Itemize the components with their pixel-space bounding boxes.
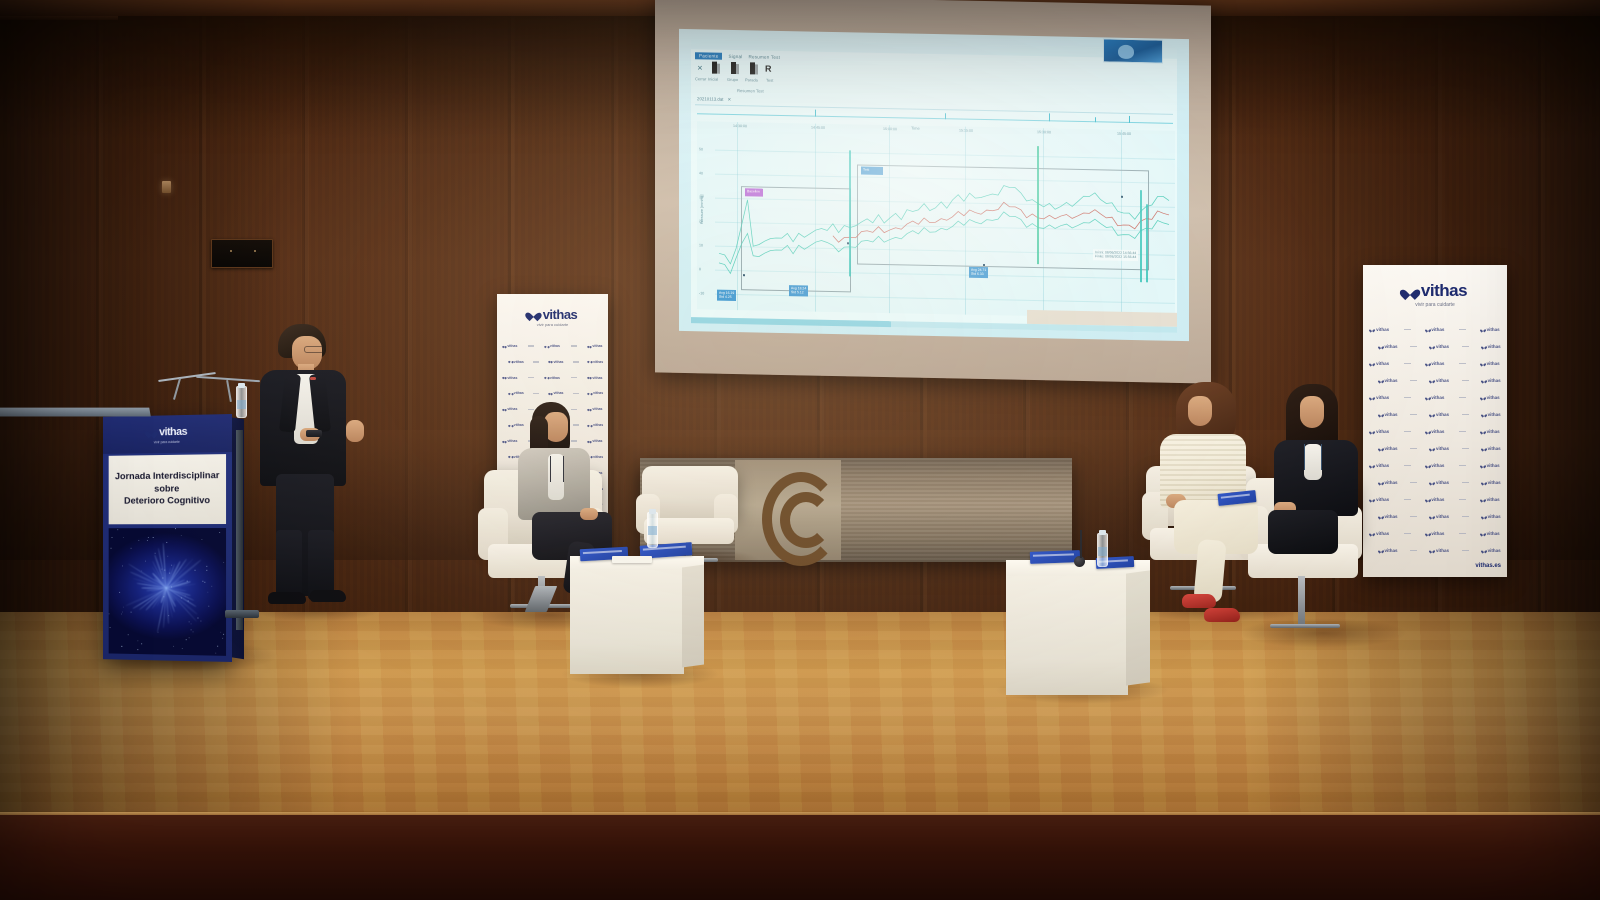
banner-pattern-row: vithasvithasvithas	[497, 386, 608, 402]
banner-pattern-dash	[1404, 363, 1411, 365]
brain-particle	[123, 606, 124, 607]
banner-pattern-row: vithasvithasvithas	[497, 338, 608, 354]
banner-left-logo: vithas	[497, 306, 608, 322]
brain-particle	[166, 542, 167, 543]
brain-particle	[122, 646, 123, 647]
brain-particle	[141, 643, 142, 644]
session-end: Finito: 08/06/2022 15:56:44	[1095, 255, 1136, 260]
brain-particle	[220, 631, 221, 632]
banner-pattern-dash	[1462, 448, 1469, 450]
brain-particle	[163, 596, 164, 597]
banner-pattern-word: vithas	[507, 376, 517, 380]
vithas-heart-icon	[1430, 379, 1434, 383]
banner-pattern-row: vithasvithasvithas	[497, 370, 608, 386]
tool-label-grupo: Grupo	[727, 77, 738, 82]
brain-particle	[110, 627, 111, 628]
banner-pattern-dash	[1459, 329, 1466, 331]
brain-particle	[123, 537, 124, 538]
vithas-heart-icon	[503, 376, 506, 379]
chart-annotation-tag[interactable]: Avg 18.24 Std 5.12	[789, 285, 808, 296]
banner-pattern-mark: vithas	[1426, 395, 1445, 400]
vithas-heart-icon	[1430, 345, 1434, 349]
brain-particle	[157, 631, 158, 632]
brain-particle	[119, 592, 120, 593]
banner-pattern-dash	[1462, 482, 1469, 484]
banner-pattern-word: vithas	[553, 391, 563, 395]
vithas-heart-icon	[1482, 379, 1486, 383]
tool-label-inicial: Inicial	[708, 76, 718, 81]
brain-particle	[222, 638, 223, 639]
banner-pattern-dash	[533, 361, 539, 363]
banner-pattern-word: vithas	[1436, 480, 1449, 485]
banner-pattern-word: vithas	[514, 391, 524, 395]
banner-pattern-word: vithas	[1487, 361, 1500, 366]
banner-right-brand: vithas	[1421, 281, 1467, 301]
brain-particle	[145, 561, 146, 562]
brain-particle	[168, 556, 169, 557]
brain-particle	[208, 592, 209, 593]
vithas-heart-icon	[528, 309, 539, 319]
vithas-heart-icon	[549, 392, 552, 395]
banner-pattern-dash	[1459, 499, 1466, 501]
chart-series-lower-envelope	[719, 206, 1169, 282]
banner-pattern-word: vithas	[593, 360, 603, 364]
panelist-3	[1268, 384, 1378, 584]
brain-particle	[138, 649, 139, 650]
banner-pattern-mark: vithas	[1379, 446, 1398, 451]
brain-particle	[147, 537, 148, 538]
vithas-heart-icon	[1481, 464, 1485, 468]
vithas-heart-icon	[545, 376, 548, 379]
banner-pattern-dash	[1410, 380, 1417, 382]
banner-pattern-row: vithasvithasvithas	[1363, 355, 1507, 372]
podium-desk-surface	[0, 408, 151, 417]
parada-icon[interactable]	[747, 62, 760, 76]
vithas-heart-icon	[1379, 549, 1383, 553]
banner-pattern-word: vithas	[550, 376, 560, 380]
banner-pattern-word: vithas	[1431, 531, 1444, 536]
banner-pattern-mark: vithas	[1481, 429, 1500, 434]
banner-pattern-mark: vithas	[1379, 480, 1398, 485]
chart-marker[interactable]	[1121, 196, 1123, 198]
banner-pattern-mark: vithas	[1482, 378, 1501, 383]
banner-pattern-word: vithas	[1384, 480, 1397, 485]
brain-particle	[181, 535, 182, 536]
folder-on-right-table[interactable]	[1030, 550, 1080, 564]
chart-marker[interactable]	[983, 264, 985, 266]
speaker-glasses	[304, 346, 324, 353]
panelist-2-shoe	[1204, 608, 1240, 622]
banner-left-tagline: vivir para cuidarte	[497, 322, 608, 327]
projection-screen: – ✕ Paciente Signal Resumen Test ✕ R Cer…	[655, 0, 1211, 384]
banner-pattern-mark: vithas	[1430, 446, 1449, 451]
tool-label-cerrar: Cerrar	[695, 76, 706, 81]
pressure-time-chart[interactable]: Time Pressure [mmHg] 50 40 30 20 10 0 -1…	[697, 121, 1175, 319]
paper-on-left-table[interactable]	[612, 556, 652, 563]
banner-pattern-row: vithasvithasvithas	[1363, 321, 1507, 338]
banner-pattern-word: vithas	[1487, 497, 1500, 502]
banner-pattern-mark: vithas	[549, 391, 564, 395]
brain-particle	[121, 646, 122, 647]
banner-pattern-word: vithas	[1384, 514, 1397, 519]
banner-right-logo: vithas	[1363, 281, 1507, 301]
brain-particle	[195, 570, 196, 571]
podium-brand: vithas	[159, 426, 187, 438]
brain-particle	[218, 646, 219, 647]
podium: vithas vivir para cuidarte Jornada Inter…	[103, 414, 232, 662]
banner-pattern-mark: vithas	[1426, 327, 1445, 332]
banner-pattern-mark: vithas	[1482, 548, 1501, 553]
ribbon-group-label: Resumen Test	[737, 88, 764, 94]
podium-brain-artwork	[109, 528, 226, 656]
brain-particle	[131, 612, 132, 613]
banner-pattern-dash	[1462, 380, 1469, 382]
banner-pattern-dash	[1462, 550, 1469, 552]
banner-pattern-word: vithas	[1488, 378, 1501, 383]
brain-particle	[204, 581, 205, 582]
control-booth-window	[211, 239, 273, 268]
banner-pattern-word: vithas	[1436, 412, 1449, 417]
banner-pattern-mark: vithas	[1426, 463, 1445, 468]
ribbon-tab-signal[interactable]: Signal	[728, 54, 742, 59]
vithas-heart-icon	[1426, 362, 1430, 366]
banner-pattern-word: vithas	[1376, 395, 1389, 400]
test-icon[interactable]: R	[765, 64, 772, 74]
banner-pattern-dash	[528, 377, 534, 379]
brain-particle	[190, 623, 191, 624]
vithas-heart-icon	[1481, 396, 1485, 400]
banner-pattern-row: vithasvithasvithas	[1363, 508, 1507, 525]
speaker-shoe-right	[310, 590, 346, 602]
chart-marker[interactable]	[847, 242, 849, 244]
vithas-heart-icon	[1426, 464, 1430, 468]
brain-particle	[138, 540, 139, 541]
banner-pattern-mark: vithas	[1370, 327, 1389, 332]
banner-pattern-mark: vithas	[509, 391, 524, 395]
ribbon-tab-paciente[interactable]: Paciente	[695, 52, 722, 60]
banner-pattern-mark: vithas	[1430, 548, 1449, 553]
banner-pattern-dash	[1459, 431, 1466, 433]
grupo-icon[interactable]	[728, 62, 741, 76]
tool-label-test: Test	[766, 78, 773, 83]
brain-particle	[122, 611, 123, 612]
banner-pattern-mark: vithas	[1370, 361, 1389, 366]
speaker-lavalier-mic	[310, 377, 316, 380]
podium-title-line-2: sobre	[115, 483, 219, 496]
tag-line-2: Std 4.25	[719, 295, 734, 300]
vithas-heart-icon	[1379, 447, 1383, 451]
banner-pattern-dash	[1404, 533, 1411, 535]
vithas-heart-icon	[1481, 430, 1485, 434]
podium-event-title: Jornada Interdisciplinar sobre Deterioro…	[115, 470, 219, 508]
table-front	[1006, 576, 1128, 695]
banner-left-brand: vithas	[543, 307, 578, 322]
brain-particle	[189, 638, 190, 639]
ribbon-tab-bar: Paciente Signal Resumen Test	[695, 52, 780, 61]
brain-particle	[215, 653, 216, 654]
side-table-right[interactable]	[1006, 560, 1150, 695]
brain-particle	[189, 621, 190, 622]
vithas-heart-icon	[1430, 481, 1434, 485]
banner-right-tagline: vivir para cuidarte	[1363, 302, 1507, 308]
overview-spike	[1095, 117, 1096, 122]
banner-pattern-word: vithas	[1488, 344, 1501, 349]
inicial-icon[interactable]	[709, 62, 722, 76]
brain-particle	[168, 615, 169, 616]
chart-event-spike	[1037, 146, 1039, 264]
brain-particle	[122, 566, 123, 567]
brain-particle	[138, 640, 139, 641]
banner-pattern-mark: vithas	[1430, 378, 1449, 383]
speaker-hand-right	[346, 420, 364, 442]
brain-particle	[130, 548, 131, 549]
banner-pattern-row: vithasvithasvithas	[1363, 542, 1507, 559]
banner-pattern-row: vithasvithasvithas	[1363, 491, 1507, 508]
banner-pattern-mark: vithas	[588, 391, 603, 395]
ribbon-tab-resumen-test[interactable]: Resumen Test	[748, 54, 780, 60]
tag-line-2: Std 6.33	[971, 272, 986, 277]
banner-pattern-word: vithas	[1376, 497, 1389, 502]
banner-pattern-word: vithas	[1384, 446, 1397, 451]
chart-annotation-tag[interactable]: Avg 16.19 Std 4.25	[717, 290, 736, 301]
banner-pattern-word: vithas	[1488, 548, 1501, 553]
vithas-heart-icon	[1430, 447, 1434, 451]
banner-pattern-dash	[1410, 550, 1417, 552]
banner-pattern-word: vithas	[592, 376, 602, 380]
banner-pattern-mark: vithas	[1379, 514, 1398, 519]
brain-particle	[112, 537, 113, 538]
chart-event-spike	[849, 150, 851, 276]
banner-pattern-word: vithas	[553, 360, 563, 364]
brain-particle	[193, 631, 194, 632]
brain-particle	[146, 540, 147, 541]
chart-traces	[697, 121, 1175, 319]
chart-region-label-baseline[interactable]: Baseline	[745, 188, 763, 196]
banner-pattern-word: vithas	[1487, 327, 1500, 332]
banner-pattern-word: vithas	[1376, 463, 1389, 468]
vithas-heart-icon	[1482, 481, 1486, 485]
document-tab[interactable]: 20210113.dat✕	[697, 96, 731, 103]
banner-pattern-word: vithas	[1436, 378, 1449, 383]
session-info-box: Ini Ini: 08/06/2022 14:56:44 Finito: 08/…	[1093, 249, 1138, 261]
banner-pattern-mark: vithas	[1430, 412, 1449, 417]
banner-pattern-mark: vithas	[588, 344, 603, 348]
brain-particle	[173, 645, 174, 646]
vithas-heart-icon	[549, 360, 552, 363]
banner-pattern-word: vithas	[1436, 514, 1449, 519]
banner-pattern-row: vithasvithasvithas	[1363, 474, 1507, 491]
banner-right-pattern: vithasvithasvithasvithasvithasvithasvith…	[1363, 321, 1507, 559]
speaker-presenter-remote[interactable]	[306, 430, 322, 437]
banner-pattern-mark: vithas	[1482, 412, 1501, 417]
banner-pattern-dash	[1459, 465, 1466, 467]
vithas-heart-icon	[545, 345, 548, 348]
banner-pattern-mark: vithas	[1379, 548, 1398, 553]
banner-pattern-dash	[1410, 448, 1417, 450]
close-icon[interactable]: ✕	[697, 64, 703, 72]
chart-annotation-tag[interactable]: Avg 24.71 Std 6.33	[969, 267, 988, 278]
overview-spike	[1049, 113, 1050, 121]
banner-pattern-mark: vithas	[1481, 497, 1500, 502]
banner-pattern-word: vithas	[1431, 361, 1444, 366]
vithas-heart-icon	[1379, 481, 1383, 485]
banner-pattern-mark: vithas	[509, 360, 524, 364]
banner-pattern-mark: vithas	[1482, 344, 1501, 349]
banner-pattern-dash	[571, 377, 577, 379]
brain-particle	[121, 613, 122, 614]
banner-pattern-mark: vithas	[1379, 378, 1398, 383]
overview-spike	[815, 110, 816, 117]
panelist-3-lanyard	[1304, 444, 1322, 470]
vithas-heart-icon	[1426, 532, 1430, 536]
water-bottle-right-table[interactable]	[1097, 533, 1108, 567]
banner-pattern-mark: vithas	[1482, 480, 1501, 485]
banner-pattern-word: vithas	[1487, 395, 1500, 400]
banner-pattern-word: vithas	[1436, 344, 1449, 349]
vithas-heart-icon	[503, 345, 506, 348]
vithas-heart-icon	[1379, 345, 1383, 349]
brain-particle	[208, 606, 209, 607]
water-bottle-podium[interactable]	[236, 386, 247, 418]
panelist-3-legs	[1268, 510, 1338, 554]
banner-pattern-mark: vithas	[545, 344, 560, 348]
vithas-heart-icon	[1430, 549, 1434, 553]
brain-particle	[109, 613, 110, 614]
speaker-shoe-left	[268, 592, 306, 604]
banner-pattern-word: vithas	[1384, 412, 1397, 417]
banner-pattern-word: vithas	[1431, 395, 1444, 400]
chart-region-label-test[interactable]: Test	[861, 167, 883, 175]
banner-pattern-dash	[571, 345, 577, 347]
banner-pattern-row: vithasvithasvithas	[497, 354, 608, 370]
vithas-heart-icon	[588, 376, 591, 379]
brain-particle	[171, 565, 172, 566]
banner-pattern-dash	[1404, 397, 1411, 399]
brain-particle	[202, 539, 203, 540]
podium-title-plate: Jornada Interdisciplinar sobre Deterioro…	[109, 454, 226, 524]
vithas-heart-icon	[509, 392, 512, 395]
document-close-icon[interactable]: ✕	[728, 97, 732, 102]
banner-pattern-mark: vithas	[1481, 531, 1500, 536]
banner-pattern-mark: vithas	[1482, 446, 1501, 451]
podium-logo: vithas	[103, 424, 232, 440]
vithas-heart-icon	[1370, 362, 1374, 366]
banner-pattern-word: vithas	[1384, 378, 1397, 383]
overview-spike	[1129, 116, 1130, 123]
brain-particle	[200, 620, 201, 621]
brain-particle	[206, 566, 207, 567]
banner-pattern-dash	[1404, 499, 1411, 501]
table-front	[570, 570, 684, 674]
podium-header-band: vithas vivir para cuidarte	[103, 414, 232, 454]
banner-pattern-word: vithas	[1431, 429, 1444, 434]
tool-label-parada: Parada	[745, 77, 758, 82]
panelist-1-hands	[580, 508, 598, 520]
banner-pattern-row: vithasvithasvithas	[1363, 389, 1507, 406]
vithas-heart-icon	[1426, 396, 1430, 400]
vithas-heart-icon	[509, 360, 512, 363]
banner-pattern-dash	[1404, 329, 1411, 331]
banner-pattern-dash	[573, 393, 579, 395]
banner-pattern-row: vithasvithasvithas	[1363, 457, 1507, 474]
vithas-heart-icon	[1430, 413, 1434, 417]
brain-particle	[128, 635, 129, 636]
brain-particle	[186, 639, 187, 640]
banner-right-url: vithas.es	[1475, 563, 1501, 569]
wall-light-fixture	[162, 181, 171, 193]
banner-pattern-row: vithasvithasvithas	[1363, 406, 1507, 423]
banner-pattern-word: vithas	[514, 360, 524, 364]
brain-particle	[211, 586, 212, 587]
water-bottle-left-table[interactable]	[647, 512, 658, 548]
banner-pattern-mark: vithas	[1426, 361, 1445, 366]
vithas-heart-icon	[1482, 345, 1486, 349]
brain-particle	[219, 532, 220, 533]
banner-pattern-word: vithas	[507, 344, 517, 348]
banner-pattern-mark: vithas	[1430, 514, 1449, 519]
vithas-heart-icon	[1481, 498, 1485, 502]
vithas-heart-icon	[1482, 549, 1486, 553]
vithas-heart-icon	[1482, 515, 1486, 519]
table-side	[1126, 570, 1150, 685]
banner-pattern-mark: vithas	[1426, 429, 1445, 434]
vithas-heart-icon	[588, 360, 591, 363]
vithas-heart-icon	[1426, 328, 1430, 332]
vithas-heart-icon	[1481, 362, 1485, 366]
monitoring-application-window: – ✕ Paciente Signal Resumen Test ✕ R Cer…	[691, 39, 1177, 333]
vithas-heart-icon	[1379, 413, 1383, 417]
banner-pattern-dash	[1462, 516, 1469, 518]
tag-line-2: Std 5.12	[791, 291, 806, 296]
banner-pattern-mark: vithas	[1379, 412, 1398, 417]
banner-pattern-word: vithas	[1431, 327, 1444, 332]
banner-pattern-word: vithas	[1487, 531, 1500, 536]
chart-marker[interactable]	[743, 274, 745, 276]
banner-pattern-mark: vithas	[1430, 480, 1449, 485]
panelist-3-face	[1300, 396, 1324, 428]
banner-right: vithas vivir para cuidarte vithasvithasv…	[1363, 265, 1507, 577]
banner-pattern-mark: vithas	[1379, 344, 1398, 349]
banner-pattern-mark: vithas	[1426, 531, 1445, 536]
banner-pattern-dash	[1462, 346, 1469, 348]
banner-pattern-dash	[1404, 431, 1411, 433]
vithas-heart-icon	[1403, 285, 1417, 297]
banner-pattern-dash	[573, 361, 579, 363]
banner-pattern-word: vithas	[1376, 429, 1389, 434]
video-thumbnail	[1103, 38, 1163, 63]
banner-pattern-word: vithas	[1487, 463, 1500, 468]
banner-pattern-mark: vithas	[1481, 395, 1500, 400]
banner-pattern-word: vithas	[1384, 548, 1397, 553]
banner-pattern-dash	[1410, 346, 1417, 348]
banner-pattern-dash	[1459, 533, 1466, 535]
vithas-heart-icon	[1481, 328, 1485, 332]
cc-inner-ring	[780, 492, 832, 548]
banner-pattern-word: vithas	[1436, 548, 1449, 553]
side-table-left[interactable]	[570, 556, 704, 676]
overview-spike	[945, 113, 946, 119]
banner-pattern-mark: vithas	[549, 360, 564, 364]
banner-pattern-word: vithas	[1488, 480, 1501, 485]
banner-pattern-row: vithasvithasvithas	[1363, 440, 1507, 457]
vithas-heart-icon	[1430, 515, 1434, 519]
vithas-heart-icon	[1426, 430, 1430, 434]
chart-event-spike	[1146, 204, 1148, 282]
brain-particle	[207, 570, 208, 571]
banner-pattern-mark: vithas	[1481, 327, 1500, 332]
panelist-2-face	[1188, 396, 1212, 426]
table-side	[682, 564, 704, 667]
